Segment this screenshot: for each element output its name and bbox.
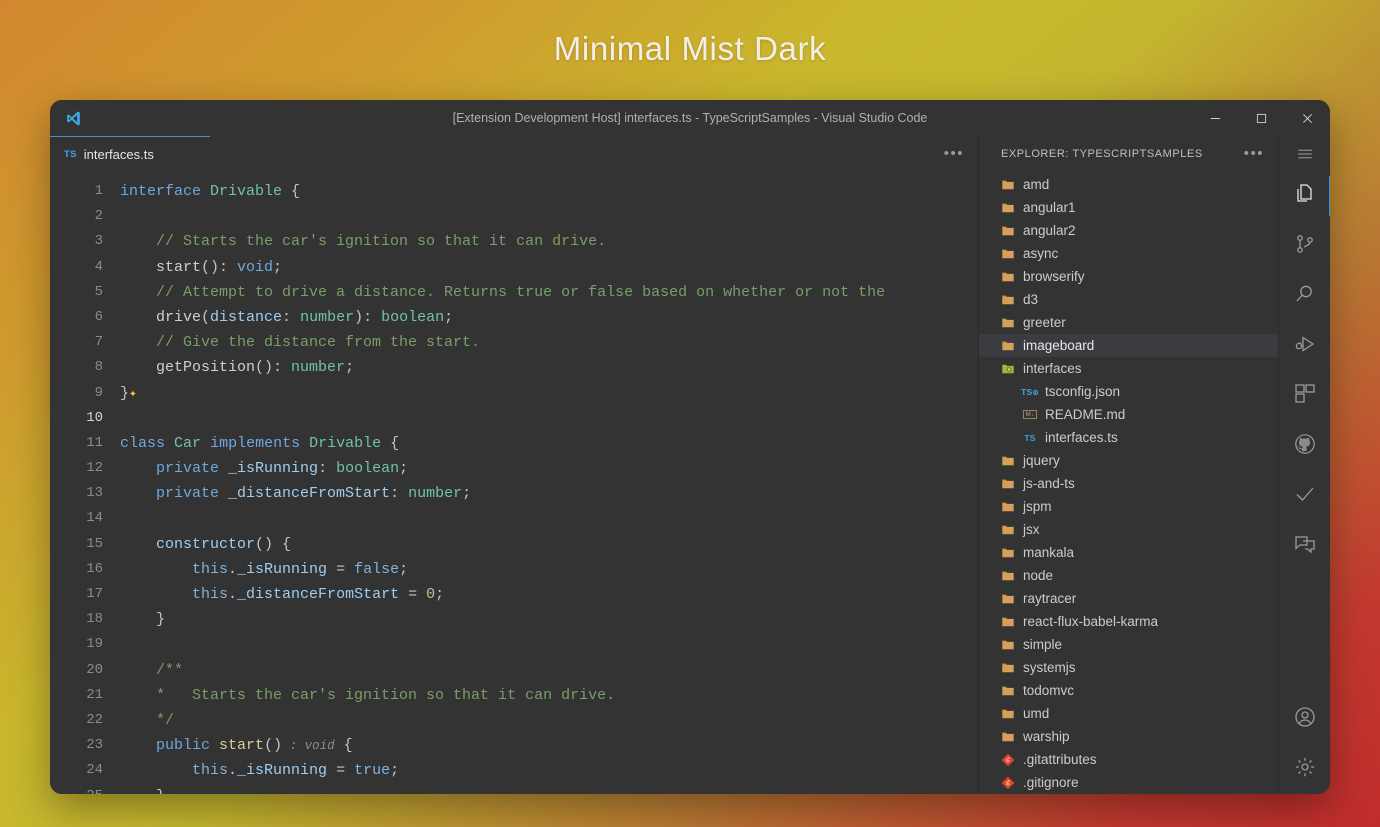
line-number: 13	[50, 481, 120, 506]
file-tree-item-label: warship	[1023, 729, 1070, 744]
line-number: 4	[50, 255, 120, 280]
line-number: 2	[50, 204, 120, 229]
activity-bar-item-search[interactable]	[1279, 271, 1331, 321]
code-token: }	[120, 788, 165, 795]
code-token: /**	[120, 662, 183, 679]
file-tree-item[interactable]: d3	[979, 288, 1278, 311]
code-text: start(): void;	[120, 255, 282, 280]
code-token: private	[156, 460, 219, 477]
line-number: 3	[50, 229, 120, 254]
code-token: boolean	[336, 460, 399, 477]
minimize-button[interactable]	[1192, 100, 1238, 136]
code-token: start	[120, 259, 201, 276]
code-token: start	[219, 737, 264, 754]
code-token: Car	[174, 435, 201, 452]
code-token: class	[120, 435, 165, 452]
code-text: * Starts the car's ignition so that it c…	[120, 683, 615, 708]
git-file-icon	[1001, 776, 1015, 790]
folder-icon	[1001, 270, 1015, 284]
file-tree-item-label: angular1	[1023, 200, 1076, 215]
more-actions-icon[interactable]: •••	[1244, 146, 1264, 161]
code-token	[120, 586, 192, 603]
code-line[interactable]: 9}✦	[50, 381, 978, 406]
file-tree-item-selected[interactable]: imageboard	[979, 334, 1278, 357]
code-token: =	[327, 762, 354, 779]
tab-bar: TS interfaces.ts •••	[50, 136, 978, 171]
code-line[interactable]: 25 }	[50, 784, 978, 795]
code-text: }	[120, 784, 165, 795]
file-tree-item-label: d3	[1023, 292, 1038, 307]
extensions-icon	[1293, 382, 1317, 411]
github-icon	[1293, 432, 1317, 461]
code-token	[201, 435, 210, 452]
file-tree-item-label: interfaces.ts	[1045, 430, 1118, 445]
line-number: 10	[50, 406, 120, 431]
activity-bar-item-testing[interactable]	[1279, 471, 1331, 521]
file-tree-item-label: amd	[1023, 177, 1049, 192]
line-number: 16	[50, 557, 120, 582]
code-line[interactable]: 14	[50, 506, 978, 531]
file-tree-item[interactable]: react-flux-babel-karma	[979, 610, 1278, 633]
line-number: 8	[50, 355, 120, 380]
file-tree-item-label: raytracer	[1023, 591, 1076, 606]
folder-icon	[1001, 500, 1015, 514]
code-token: constructor	[120, 536, 255, 553]
activity-bar-item-comments[interactable]	[1279, 521, 1331, 571]
file-tree-item[interactable]: raytracer	[979, 587, 1278, 610]
run-debug-icon	[1293, 332, 1317, 361]
line-number: 17	[50, 582, 120, 607]
folder-icon	[1001, 201, 1015, 215]
line-number: 9	[50, 381, 120, 406]
file-tree-item[interactable]: jsx	[979, 518, 1278, 541]
code-token: }	[120, 611, 165, 628]
folder-icon	[1001, 730, 1015, 744]
file-tree-item[interactable]: amd	[979, 173, 1278, 196]
file-tree-item-label: async	[1023, 246, 1058, 261]
tsconfig-file-icon: TS⚙	[1023, 385, 1037, 399]
code-token: ;	[399, 460, 408, 477]
file-tree-item-label: browserify	[1023, 269, 1085, 284]
typescript-file-icon: TS	[1023, 431, 1037, 445]
file-tree-item-label: jspm	[1023, 499, 1052, 514]
code-token: true	[354, 762, 390, 779]
code-line[interactable]: 7 // Give the distance from the start.	[50, 330, 978, 355]
line-number: 6	[50, 305, 120, 330]
folder-icon	[1001, 224, 1015, 238]
code-text: public start() : void {	[120, 733, 353, 758]
folder-icon	[1001, 316, 1015, 330]
code-token: private	[156, 485, 219, 502]
folder-icon	[1001, 477, 1015, 491]
code-token: _distanceFromStart	[237, 586, 399, 603]
code-token: () {	[255, 536, 291, 553]
file-tree-item[interactable]: async	[979, 242, 1278, 265]
files-icon	[1293, 182, 1317, 211]
code-text: /**	[120, 658, 183, 683]
activity-bar-item-explorer[interactable]	[1279, 171, 1331, 221]
explorer-header: EXPLORER: TYPESCRIPTSAMPLES •••	[979, 136, 1278, 171]
code-token: number	[291, 359, 345, 376]
file-tree-item[interactable]: TSinterfaces.ts	[979, 426, 1278, 449]
code-token: public	[156, 737, 210, 754]
explorer-title: EXPLORER: TYPESCRIPTSAMPLES	[1001, 148, 1236, 160]
folder-icon	[1001, 178, 1015, 192]
file-tree-item[interactable]: warship	[979, 725, 1278, 748]
activity-bar-bottom	[1279, 694, 1331, 794]
file-tree-item-label: README.md	[1045, 407, 1125, 422]
code-token: getPosition	[120, 359, 255, 376]
check-icon	[1293, 482, 1317, 511]
file-tree-item[interactable]: M↓README.md	[979, 403, 1278, 426]
code-token: ;	[399, 561, 408, 578]
code-line[interactable]: 21 * Starts the car's ignition so that i…	[50, 683, 978, 708]
code-token: number	[408, 485, 462, 502]
line-number: 12	[50, 456, 120, 481]
folder-open-icon	[1001, 362, 1015, 376]
file-tree-item-label: systemjs	[1023, 660, 1076, 675]
code-line[interactable]: 16 this._isRunning = false;	[50, 557, 978, 582]
code-token: ;	[345, 359, 354, 376]
folder-icon	[1001, 661, 1015, 675]
code-token: ;	[390, 762, 399, 779]
file-tree-item-label: greeter	[1023, 315, 1066, 330]
window-title: [Extension Development Host] interfaces.…	[50, 111, 1330, 125]
line-number: 19	[50, 632, 120, 657]
maximize-button[interactable]	[1238, 100, 1284, 136]
code-token	[120, 561, 192, 578]
folder-icon	[1001, 707, 1015, 721]
code-text: this._distanceFromStart = 0;	[120, 582, 444, 607]
line-number: 1	[50, 179, 120, 204]
folder-icon	[1001, 523, 1015, 537]
line-number: 24	[50, 758, 120, 783]
code-token: false	[354, 561, 399, 578]
code-token: interface	[120, 183, 201, 200]
code-token: =	[327, 561, 354, 578]
code-token: boolean	[381, 309, 444, 326]
window-controls	[1192, 100, 1330, 136]
code-token: }	[120, 385, 129, 402]
code-token: distance	[210, 309, 282, 326]
file-tree-item[interactable]: mankala	[979, 541, 1278, 564]
code-token	[210, 737, 219, 754]
close-button[interactable]	[1284, 100, 1330, 136]
line-number: 11	[50, 431, 120, 456]
code-token: {	[335, 737, 353, 754]
folder-icon	[1001, 454, 1015, 468]
code-line[interactable]: 2	[50, 204, 978, 229]
line-number: 25	[50, 784, 120, 795]
code-text: // Attempt to drive a distance. Returns …	[120, 280, 885, 305]
line-number: 23	[50, 733, 120, 758]
code-line[interactable]: 11class Car implements Drivable {	[50, 431, 978, 456]
code-token: :	[282, 309, 300, 326]
code-token: */	[120, 712, 174, 729]
activity-bar-item-settings[interactable]	[1279, 744, 1331, 794]
file-tree-item-label: imageboard	[1023, 338, 1094, 353]
code-token: this	[192, 561, 228, 578]
folder-icon	[1001, 247, 1015, 261]
file-tree-item[interactable]: js-and-ts	[979, 472, 1278, 495]
file-tree-item[interactable]: interfaces	[979, 357, 1278, 380]
copilot-sparkle-icon: ✦	[129, 386, 137, 401]
file-tree-item-label: simple	[1023, 637, 1062, 652]
code-token: // Attempt to drive a distance. Returns …	[120, 284, 885, 301]
account-icon	[1293, 705, 1317, 734]
file-tree-item-label: js-and-ts	[1023, 476, 1075, 491]
code-line[interactable]: 20 /**	[50, 658, 978, 683]
folder-icon	[1001, 592, 1015, 606]
code-token: {	[381, 435, 399, 452]
code-token: :	[390, 485, 408, 502]
file-tree-item-label: jsx	[1023, 522, 1040, 537]
file-tree-item[interactable]: greeter	[979, 311, 1278, 334]
activity-bar-top	[1279, 171, 1331, 571]
code-token: =	[399, 586, 426, 603]
git-file-icon	[1001, 753, 1015, 767]
comments-icon	[1293, 532, 1317, 561]
file-tree-item-label: .gitattributes	[1023, 752, 1097, 767]
line-number: 21	[50, 683, 120, 708]
folder-icon	[1001, 339, 1015, 353]
code-token: _distanceFromStart	[219, 485, 390, 502]
code-token: ():	[201, 259, 237, 276]
code-token: (	[201, 309, 210, 326]
file-tree-item-label: interfaces	[1023, 361, 1082, 376]
code-token: _isRunning	[219, 460, 318, 477]
tab-label: interfaces.ts	[84, 147, 154, 162]
file-tree-item[interactable]: .gitignore	[979, 771, 1278, 794]
activity-bar-item-github[interactable]	[1279, 421, 1331, 471]
file-tree-item-label: react-flux-babel-karma	[1023, 614, 1158, 629]
code-text: // Give the distance from the start.	[120, 330, 480, 355]
file-tree-item-label: umd	[1023, 706, 1049, 721]
code-token: ;	[462, 485, 471, 502]
code-line[interactable]: 10	[50, 406, 978, 431]
line-number: 5	[50, 280, 120, 305]
activity-bar-item-run-and-debug[interactable]	[1279, 321, 1331, 371]
code-line[interactable]: 18 }	[50, 607, 978, 632]
gear-icon	[1293, 755, 1317, 784]
file-tree-item-label: node	[1023, 568, 1053, 583]
file-tree[interactable]: amdangular1angular2asyncbrowserifyd3gree…	[979, 171, 1278, 794]
markdown-file-icon: M↓	[1023, 408, 1037, 422]
code-token	[201, 183, 210, 200]
editor-actions[interactable]: •••	[944, 136, 978, 171]
code-token: // Starts the car's ignition so that it …	[120, 233, 606, 250]
code-line[interactable]: 3 // Starts the car's ignition so that i…	[50, 229, 978, 254]
code-token: this	[192, 762, 228, 779]
code-token	[120, 737, 156, 754]
line-number: 18	[50, 607, 120, 632]
line-number: 22	[50, 708, 120, 733]
code-line[interactable]: 22 */	[50, 708, 978, 733]
explorer-sidebar: EXPLORER: TYPESCRIPTSAMPLES ••• amdangul…	[978, 136, 1278, 794]
code-line[interactable]: 1interface Drivable {	[50, 179, 978, 204]
code-text: private _isRunning: boolean;	[120, 456, 408, 481]
code-token: implements	[210, 435, 300, 452]
file-tree-item[interactable]: angular1	[979, 196, 1278, 219]
file-tree-item[interactable]: todomvc	[979, 679, 1278, 702]
file-tree-item[interactable]: node	[979, 564, 1278, 587]
code-line[interactable]: 24 this._isRunning = true;	[50, 758, 978, 783]
code-text: class Car implements Drivable {	[120, 431, 399, 456]
vscode-window: [Extension Development Host] interfaces.…	[50, 100, 1330, 794]
file-tree-item[interactable]: jspm	[979, 495, 1278, 518]
code-editor[interactable]: 1interface Drivable {23 // Starts the ca…	[50, 171, 978, 794]
activity-bar-item-source-control[interactable]	[1279, 221, 1331, 271]
code-token: .	[228, 586, 237, 603]
code-token	[300, 435, 309, 452]
code-token: {	[282, 183, 300, 200]
code-token: : void	[282, 739, 335, 753]
activity-bar	[1278, 136, 1330, 794]
file-tree-item[interactable]: simple	[979, 633, 1278, 656]
folder-icon	[1001, 684, 1015, 698]
code-text: private _distanceFromStart: number;	[120, 481, 471, 506]
code-line[interactable]: 13 private _distanceFromStart: number;	[50, 481, 978, 506]
code-token: void	[237, 259, 273, 276]
views-menu-icon[interactable]	[1279, 136, 1331, 171]
code-token: 0	[426, 586, 435, 603]
code-token: _isRunning	[237, 561, 327, 578]
code-token	[120, 460, 156, 477]
code-token: .	[228, 561, 237, 578]
code-text: }	[120, 607, 165, 632]
folder-icon	[1001, 638, 1015, 652]
file-tree-item[interactable]: angular2	[979, 219, 1278, 242]
tab-interfaces-ts[interactable]: TS interfaces.ts	[50, 136, 210, 171]
code-token: ;	[273, 259, 282, 276]
code-token: number	[300, 309, 354, 326]
file-tree-item[interactable]: browserify	[979, 265, 1278, 288]
code-token: ;	[444, 309, 453, 326]
code-token: this	[192, 586, 228, 603]
code-token: ()	[264, 737, 282, 754]
vscode-logo-icon	[50, 110, 96, 127]
code-text: interface Drivable {	[120, 179, 300, 204]
more-actions-icon[interactable]: •••	[944, 146, 964, 161]
file-tree-item[interactable]: systemjs	[979, 656, 1278, 679]
line-number: 14	[50, 506, 120, 531]
code-token: Drivable	[210, 183, 282, 200]
activity-bar-item-extensions[interactable]	[1279, 371, 1331, 421]
code-text: this._isRunning = false;	[120, 557, 408, 582]
code-token: Drivable	[309, 435, 381, 452]
code-token: .	[228, 762, 237, 779]
title-bar: [Extension Development Host] interfaces.…	[50, 100, 1330, 136]
code-token	[165, 435, 174, 452]
wallpaper-title: Minimal Mist Dark	[0, 30, 1380, 68]
code-token: ():	[255, 359, 291, 376]
code-text: }✦	[120, 381, 137, 406]
code-line[interactable]: 4 start(): void;	[50, 255, 978, 280]
code-text: drive(distance: number): boolean;	[120, 305, 453, 330]
code-text: this._isRunning = true;	[120, 758, 399, 783]
typescript-file-icon: TS	[64, 149, 77, 160]
activity-bar-item-accounts[interactable]	[1279, 694, 1331, 744]
code-token: // Give the distance from the start.	[120, 334, 480, 351]
code-token	[120, 485, 156, 502]
code-text: // Starts the car's ignition so that it …	[120, 229, 606, 254]
code-line[interactable]: 23 public start() : void {	[50, 733, 978, 758]
file-tree-item-label: .gitignore	[1023, 775, 1079, 790]
code-token: ;	[435, 586, 444, 603]
line-number: 15	[50, 532, 120, 557]
folder-icon	[1001, 569, 1015, 583]
window-body: TS interfaces.ts ••• 1interface Drivable…	[50, 136, 1330, 794]
line-number: 7	[50, 330, 120, 355]
code-line[interactable]: 8 getPosition(): number;	[50, 355, 978, 380]
code-line[interactable]: 6 drive(distance: number): boolean;	[50, 305, 978, 330]
file-tree-item[interactable]: umd	[979, 702, 1278, 725]
code-text: */	[120, 708, 174, 733]
folder-icon	[1001, 293, 1015, 307]
file-tree-item[interactable]: jquery	[979, 449, 1278, 472]
editor-column: TS interfaces.ts ••• 1interface Drivable…	[50, 136, 978, 794]
code-line[interactable]: 19	[50, 632, 978, 657]
file-tree-item-label: todomvc	[1023, 683, 1074, 698]
code-text: constructor() {	[120, 532, 291, 557]
code-token: ):	[354, 309, 381, 326]
code-line[interactable]: 5 // Attempt to drive a distance. Return…	[50, 280, 978, 305]
code-token: drive	[120, 309, 201, 326]
code-token: :	[318, 460, 336, 477]
search-icon	[1293, 282, 1317, 311]
file-tree-item[interactable]: .gitattributes	[979, 748, 1278, 771]
code-text: getPosition(): number;	[120, 355, 354, 380]
code-token: * Starts the car's ignition so that it c…	[120, 687, 615, 704]
line-number: 20	[50, 658, 120, 683]
code-line[interactable]: 12 private _isRunning: boolean;	[50, 456, 978, 481]
code-token: _isRunning	[237, 762, 327, 779]
file-tree-item-label: angular2	[1023, 223, 1076, 238]
code-token	[120, 762, 192, 779]
code-line[interactable]: 15 constructor() {	[50, 532, 978, 557]
file-tree-item-label: mankala	[1023, 545, 1074, 560]
file-tree-item[interactable]: TS⚙tsconfig.json	[979, 380, 1278, 403]
folder-icon	[1001, 615, 1015, 629]
file-tree-item-label: tsconfig.json	[1045, 384, 1120, 399]
folder-icon	[1001, 546, 1015, 560]
code-line[interactable]: 17 this._distanceFromStart = 0;	[50, 582, 978, 607]
file-tree-item-label: jquery	[1023, 453, 1060, 468]
source-control-icon	[1293, 232, 1317, 261]
